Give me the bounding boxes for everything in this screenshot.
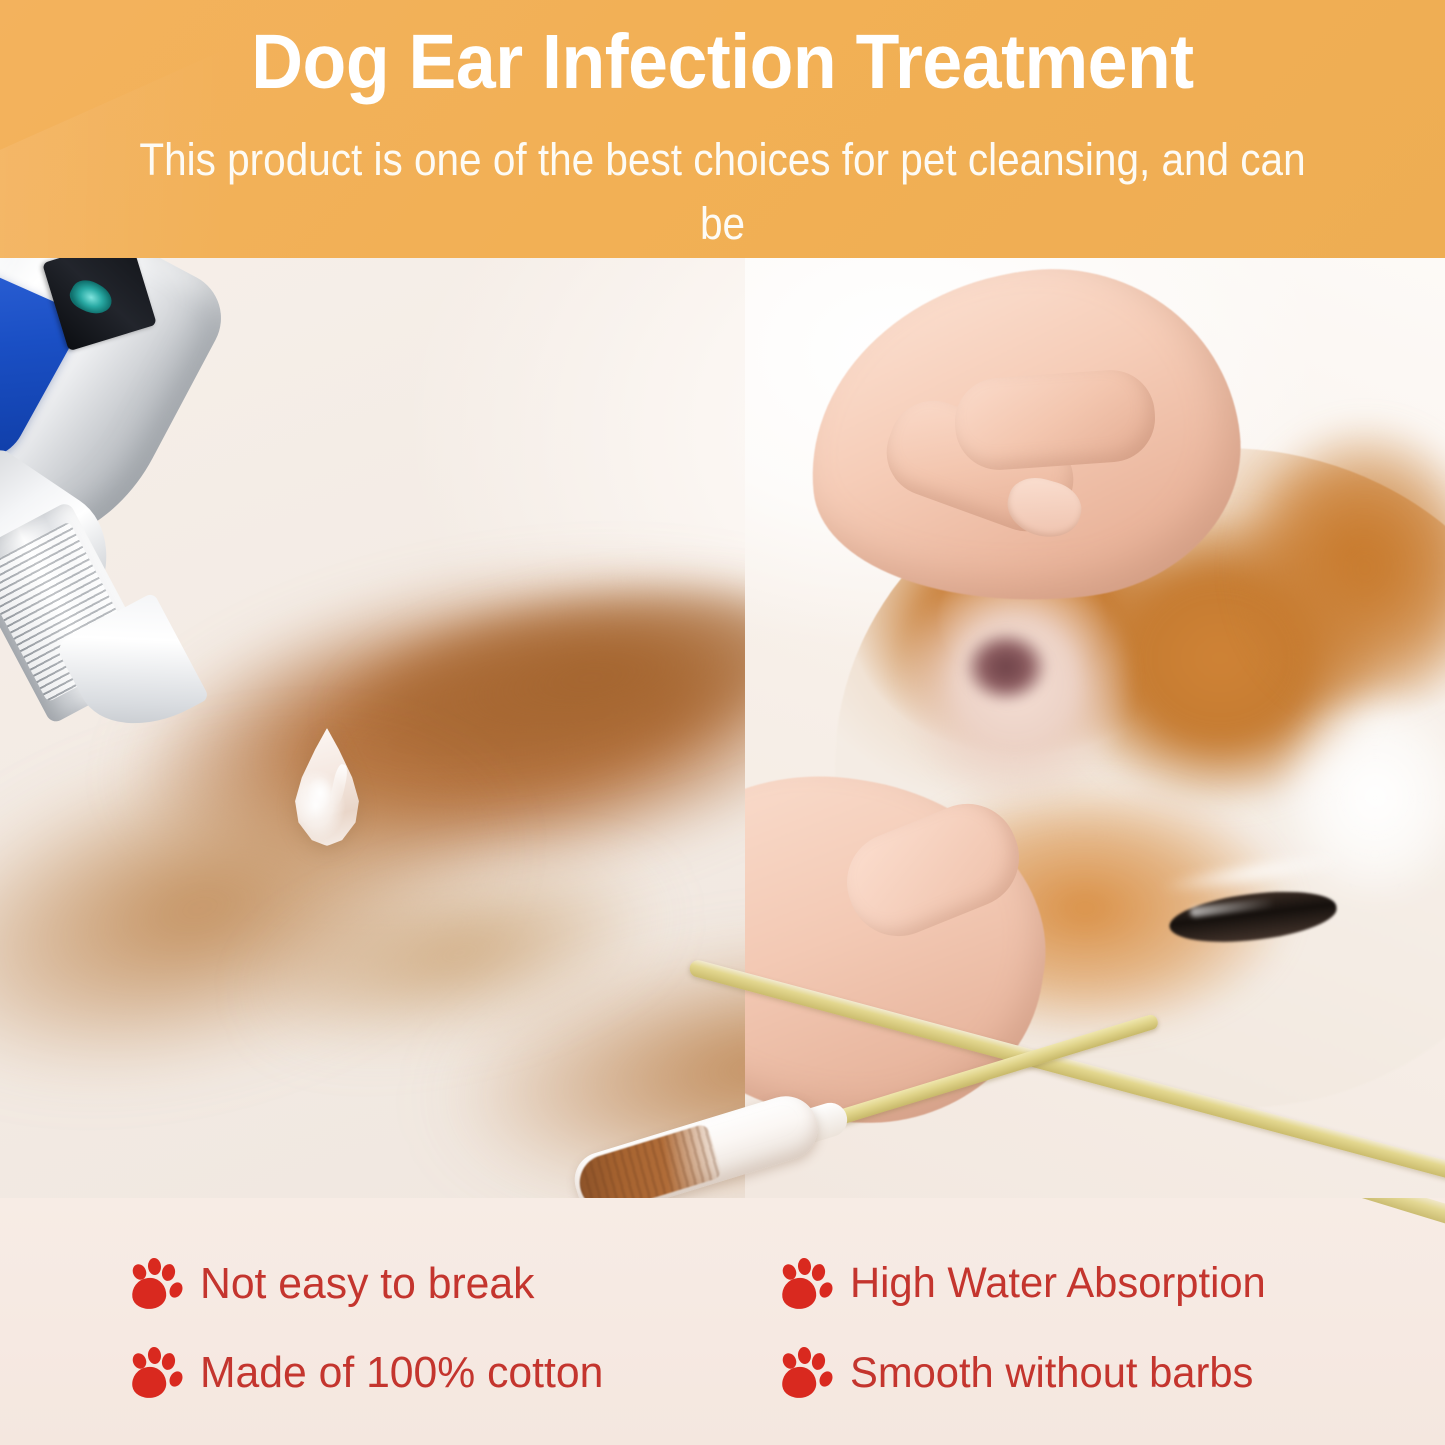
features-grid: Not easy to break High Water Absorption … <box>0 1198 1445 1445</box>
dog-scene <box>745 258 1445 1198</box>
droplet-highlight <box>307 776 333 810</box>
header-subtitle-line-1: This product is one of the best choices … <box>119 128 1326 256</box>
feature-label: Made of 100% cotton <box>200 1349 603 1397</box>
feature-item-smooth-without-barbs: Smooth without barbs <box>780 1332 1412 1416</box>
header-banner: Dog Ear Infection Treatment This product… <box>0 0 1445 258</box>
feature-label: Smooth without barbs <box>850 1350 1253 1397</box>
features-band: Not easy to break High Water Absorption … <box>0 1198 1445 1445</box>
feature-label: Not easy to break <box>200 1260 535 1308</box>
paw-print-icon <box>130 1258 180 1310</box>
feature-item-high-water-absorption: High Water Absorption <box>780 1242 1412 1326</box>
page-title: Dog Ear Infection Treatment <box>51 22 1395 102</box>
product-photo <box>0 258 1445 1198</box>
feature-item-not-easy-to-break: Not easy to break <box>130 1242 762 1326</box>
finger <box>952 367 1158 473</box>
feature-item-made-of-100-cotton: Made of 100% cotton <box>130 1332 762 1416</box>
header-subtitle-line-2: combined with Ear Tonic,Wash, or Elixir … <box>119 256 1326 258</box>
paw-print-icon <box>130 1347 180 1399</box>
product-infographic: Dog Ear Infection Treatment This product… <box>0 0 1445 1445</box>
feature-label: High Water Absorption <box>850 1260 1266 1307</box>
header-subtitle: This product is one of the best choices … <box>119 128 1326 258</box>
paw-print-icon <box>780 1258 830 1310</box>
paw-print-icon <box>780 1347 830 1399</box>
liquid-droplet <box>285 728 369 846</box>
